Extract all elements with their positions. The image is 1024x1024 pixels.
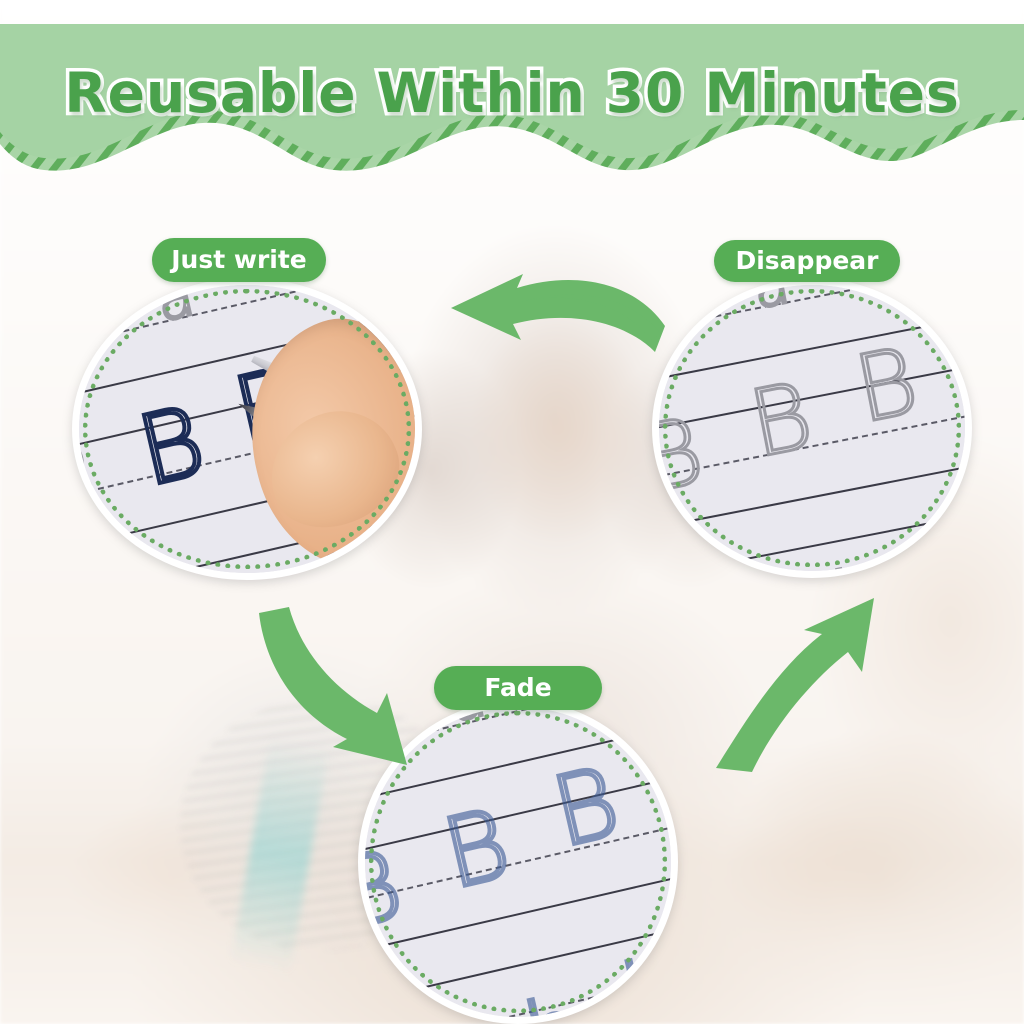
step-disappear-photo: a a a B B B b b xyxy=(652,278,972,578)
practice-paper: a a a B B B b b xyxy=(659,285,965,571)
arrow-fade-to-disappear xyxy=(712,596,912,776)
arrow-disappear-to-just-write xyxy=(425,268,675,393)
step-just-write-photo: a a a B B B b b xyxy=(72,278,422,580)
badge-just-write: Just write xyxy=(152,238,326,282)
page-title: Reusable Within 30 Minutes xyxy=(0,61,1024,125)
promo-graphic: Reusable Within 30 Minutes a xyxy=(0,0,1024,1024)
badge-disappear: Disappear xyxy=(714,240,900,282)
header-banner: Reusable Within 30 Minutes xyxy=(0,24,1024,174)
badge-fade: Fade xyxy=(434,666,602,710)
arrow-just-write-to-fade xyxy=(255,605,455,785)
